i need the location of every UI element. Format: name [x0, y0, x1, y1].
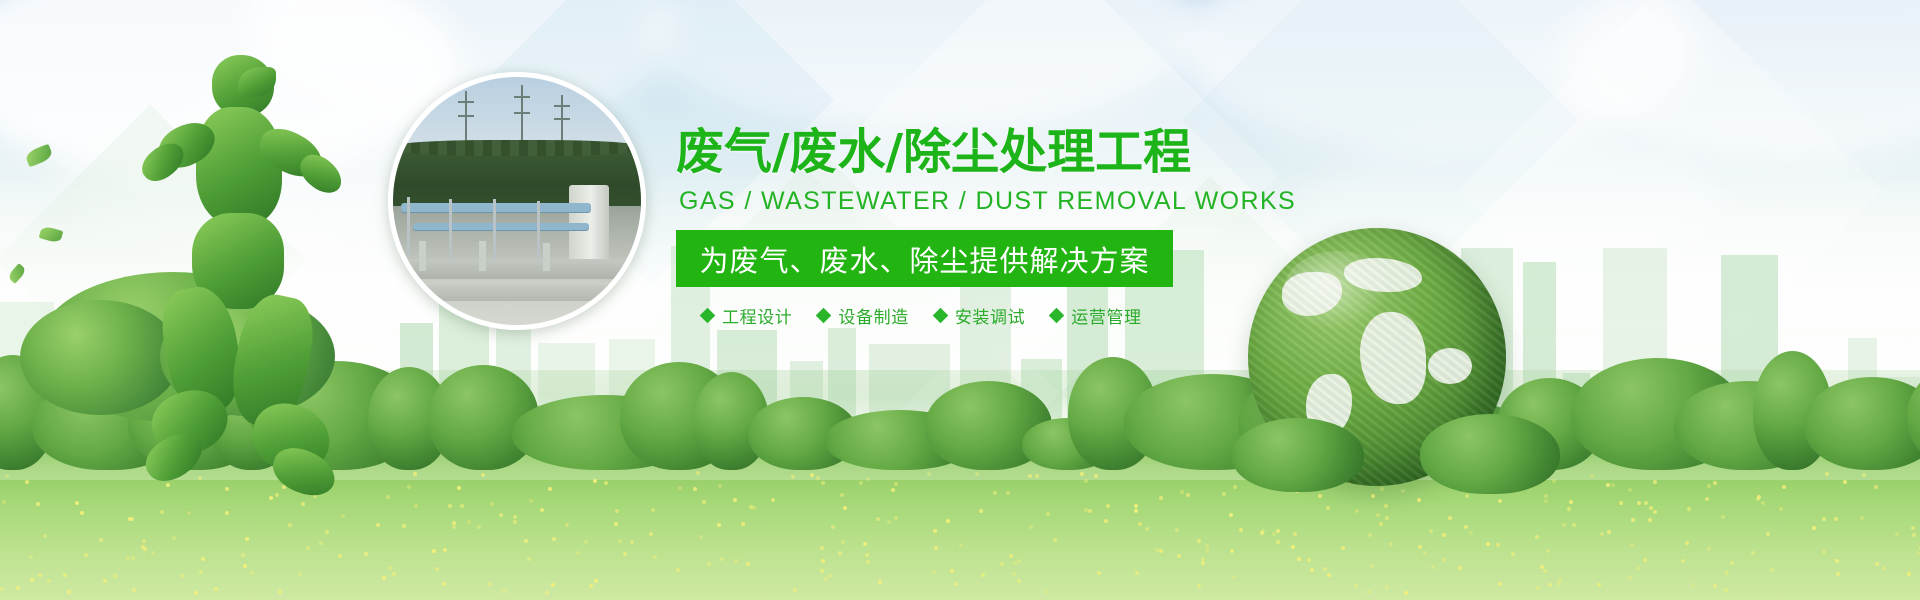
wildflower	[392, 572, 396, 576]
wildflower	[1546, 549, 1550, 553]
wildflower	[1649, 506, 1653, 510]
wildflower	[1636, 566, 1640, 570]
wildflower	[63, 573, 67, 577]
wildflower	[843, 506, 847, 510]
wildflower	[490, 502, 494, 506]
wildflower	[1540, 565, 1544, 569]
wildflower	[859, 481, 863, 485]
wildflower	[151, 551, 155, 555]
wildflower	[1469, 531, 1473, 535]
page-title: 废气/废水/除尘处理工程	[676, 124, 1196, 180]
wildflower	[29, 555, 33, 559]
rail-post	[537, 201, 540, 261]
wildflower	[1607, 530, 1611, 534]
wildflower	[1138, 522, 1142, 526]
wildflower	[1230, 549, 1234, 553]
wildflower	[746, 562, 750, 566]
wildflower	[319, 541, 323, 545]
wildflower	[457, 486, 461, 490]
wildflower	[1544, 499, 1548, 503]
wildflower	[1628, 488, 1632, 492]
wildflower	[1557, 582, 1561, 586]
wildflower	[1835, 559, 1839, 563]
wildflower	[67, 590, 71, 594]
wildflower	[676, 568, 680, 572]
wildflower	[1705, 497, 1709, 501]
wildflower	[876, 517, 880, 521]
headline-block: 废气/废水/除尘处理工程 GAS / WASTEWATER / DUST REM…	[676, 124, 1196, 328]
wildflower	[1155, 548, 1159, 552]
wildflower	[1080, 472, 1084, 476]
wildflower	[103, 579, 107, 583]
wildflower	[545, 591, 549, 595]
wildflower	[1637, 501, 1641, 505]
wildflower	[1567, 507, 1571, 511]
wildflower	[1600, 532, 1604, 536]
wildflower	[1648, 518, 1652, 522]
wildflower	[414, 504, 418, 508]
wildflower	[1291, 545, 1295, 549]
rail-post	[449, 199, 452, 261]
wildflower	[467, 520, 471, 524]
wildflower	[1834, 517, 1838, 521]
wildflower	[594, 579, 598, 583]
wildflower	[810, 473, 814, 477]
wildflower	[1895, 532, 1899, 536]
wildflower	[194, 591, 198, 595]
wildflower	[1536, 586, 1540, 590]
wildflower	[499, 513, 503, 517]
wildflower	[388, 566, 392, 570]
wildflower	[894, 482, 898, 486]
wildflower	[1012, 572, 1016, 576]
wildflower	[696, 471, 700, 475]
wildflower	[1371, 494, 1375, 498]
wildflower	[821, 559, 825, 563]
wildflower	[1106, 504, 1110, 508]
wildflower	[1782, 485, 1786, 489]
diamond-bullet-icon	[933, 308, 949, 324]
wildflower	[1000, 562, 1004, 566]
wildflower	[1552, 479, 1556, 483]
wildflower	[1197, 539, 1201, 543]
wildflower	[1367, 590, 1371, 594]
wildflower	[1911, 526, 1915, 530]
wildflower	[1464, 525, 1468, 529]
wildflower	[1766, 532, 1770, 536]
wildflower	[1569, 500, 1573, 504]
leaf-man-figure	[140, 55, 360, 525]
wildflower	[1631, 518, 1635, 522]
wildflower	[615, 509, 619, 513]
wildflower	[1222, 492, 1226, 496]
wildflower	[1465, 494, 1469, 498]
wildflower	[1725, 571, 1729, 575]
wildflower	[887, 520, 891, 524]
wildflower	[1730, 561, 1734, 565]
wildflower	[1498, 582, 1502, 586]
wildflower	[1822, 550, 1826, 554]
wildflower	[1094, 474, 1098, 478]
wildflower	[1916, 551, 1920, 555]
wildflower	[502, 589, 506, 593]
wildflower	[816, 476, 820, 480]
wildflower	[1825, 472, 1829, 476]
wildflower	[1197, 584, 1201, 588]
wildflower	[1653, 480, 1657, 484]
wildflower	[25, 480, 29, 484]
wildflower	[866, 477, 870, 481]
wildflower	[840, 493, 844, 497]
wildflower	[1239, 528, 1243, 532]
wildflower	[1134, 509, 1138, 513]
wildflower	[793, 588, 797, 592]
wildflower	[1874, 485, 1878, 489]
wildflower	[481, 473, 485, 477]
service-bullet[interactable]: 工程设计	[702, 303, 792, 328]
wildflower	[243, 564, 247, 568]
wildflower	[325, 530, 329, 534]
diamond-bullet-icon	[816, 308, 832, 324]
wildflower	[1380, 487, 1384, 491]
wildflower	[452, 525, 456, 529]
support-column	[419, 241, 426, 271]
slogan-bar: 为废气、废水、除尘提供解决方案	[676, 230, 1173, 287]
wildflower	[1687, 507, 1691, 511]
wildflower	[1498, 499, 1502, 503]
wildflower	[1685, 541, 1689, 545]
basin-edge	[393, 285, 641, 301]
rail-post	[493, 199, 496, 261]
wildflower	[1590, 474, 1594, 478]
wildflower	[1376, 513, 1380, 517]
wildflower	[821, 481, 825, 485]
wildflower	[47, 579, 51, 583]
wildflower	[1724, 588, 1728, 592]
wildflower	[382, 576, 386, 580]
service-bullet-label: 工程设计	[722, 303, 792, 328]
wildflower	[128, 517, 132, 521]
basin-edge	[393, 259, 641, 279]
rail-post	[407, 197, 410, 257]
wildflower	[1029, 525, 1033, 529]
wildflower	[791, 475, 795, 479]
service-bullet-label: 运营管理	[1071, 303, 1141, 328]
wildflower	[1544, 494, 1548, 498]
pipe	[413, 223, 589, 230]
wildflower	[1882, 566, 1886, 570]
wildflower	[1812, 526, 1816, 530]
wildflower	[1233, 485, 1237, 489]
wildflower	[718, 484, 722, 488]
wildflower	[749, 505, 753, 509]
wildflower	[1681, 559, 1685, 563]
wildflower	[1017, 559, 1021, 563]
wildflower	[981, 573, 985, 577]
wildflower	[386, 495, 390, 499]
wildflower	[1006, 491, 1010, 495]
wildflower	[1597, 583, 1601, 587]
wildflower	[524, 539, 528, 543]
wildflower	[841, 540, 845, 544]
wildflower	[488, 582, 492, 586]
wildflower	[1836, 572, 1840, 576]
wildflower	[513, 515, 517, 519]
wildflower	[376, 523, 380, 527]
wildflower	[702, 500, 706, 504]
wildflower	[584, 540, 588, 544]
wildflower	[1548, 583, 1552, 587]
wildflower	[1389, 542, 1393, 546]
wildflower	[565, 523, 569, 527]
wildflower	[828, 574, 832, 578]
wildflower	[1341, 546, 1345, 550]
wildflower	[30, 578, 34, 582]
wildflower	[16, 586, 20, 590]
wildflower	[278, 590, 282, 594]
wildflower	[99, 538, 103, 542]
wildflower	[443, 548, 447, 552]
wildflower	[1186, 493, 1190, 497]
wildflower	[513, 520, 517, 524]
wildflower	[1145, 527, 1149, 531]
wildflower	[649, 532, 653, 536]
wildflower	[38, 573, 42, 577]
wildflower	[1175, 528, 1179, 532]
wildflower	[831, 525, 835, 529]
wildflower	[131, 556, 135, 560]
wildflower	[950, 569, 954, 573]
wildflower	[824, 577, 828, 581]
wildflower	[1486, 542, 1490, 546]
wildflower	[1084, 508, 1088, 512]
wildflower	[1205, 549, 1209, 553]
wildflower	[693, 487, 697, 491]
wildflower	[1035, 474, 1039, 478]
wildflower	[442, 582, 446, 586]
wildflower	[527, 557, 531, 561]
wildflower	[5, 474, 9, 478]
wildflower	[1323, 567, 1327, 571]
wildflower	[1177, 554, 1181, 558]
wildflower	[448, 504, 452, 508]
wildflower	[548, 487, 552, 491]
wildflower	[540, 508, 544, 512]
wildflower	[1535, 535, 1539, 539]
wildflower	[1017, 579, 1021, 583]
wildflower	[1691, 583, 1695, 587]
wildflower	[1385, 585, 1389, 589]
wildflower	[1572, 523, 1576, 527]
wildflower	[630, 540, 634, 544]
wildflower	[407, 485, 411, 489]
wildflower	[113, 574, 117, 578]
wildflower	[1368, 533, 1372, 537]
wildflower	[180, 574, 184, 578]
wildflower	[1628, 576, 1632, 580]
wildflower	[1442, 558, 1446, 562]
wildflower	[820, 546, 824, 550]
wildflower	[1757, 495, 1761, 499]
service-bullet-label: 安装调试	[955, 303, 1025, 328]
wildflower	[306, 546, 310, 550]
service-bullet-label: 设备制造	[838, 303, 908, 328]
wildflower	[1862, 473, 1866, 477]
wildflower	[364, 552, 368, 556]
wildflower	[651, 508, 655, 512]
wildflower	[1104, 519, 1108, 523]
wildflower	[954, 582, 958, 586]
wildflower	[1643, 558, 1647, 562]
wildflower	[604, 481, 608, 485]
wildflower	[143, 547, 147, 551]
wildflower	[1779, 507, 1783, 511]
service-bullet[interactable]: 安装调试	[935, 303, 1025, 328]
service-bullet[interactable]: 运营管理	[1051, 303, 1141, 328]
wildflower	[1644, 501, 1648, 505]
wildflower	[1404, 591, 1408, 595]
wildflower	[1159, 549, 1163, 553]
wildflower	[720, 557, 724, 561]
wildflower	[699, 535, 703, 539]
wildflower	[1511, 552, 1515, 556]
wildflower	[717, 523, 721, 527]
wildflower	[1370, 564, 1374, 568]
wildflower	[1707, 547, 1711, 551]
wildflower	[1293, 532, 1297, 536]
wildflower	[1327, 573, 1331, 577]
wildflower	[413, 472, 417, 476]
service-bullet[interactable]: 设备制造	[818, 303, 908, 328]
service-bullet-list: 工程设计设备制造安装调试运营管理	[676, 303, 1196, 328]
wildflower	[1297, 557, 1301, 561]
wildflower	[734, 559, 738, 563]
wildflower	[1630, 543, 1634, 547]
wildflower	[551, 583, 555, 587]
wildflower	[1205, 544, 1209, 548]
pipe	[401, 203, 591, 212]
diamond-bullet-icon	[1049, 308, 1065, 324]
bush	[1420, 414, 1560, 494]
wildflower	[1761, 501, 1765, 505]
wildflower	[576, 551, 580, 555]
wildflower	[1423, 551, 1427, 555]
wildflower	[460, 504, 464, 508]
wildflower	[863, 542, 867, 546]
wildflower	[250, 571, 254, 575]
wildflower	[589, 584, 593, 588]
wildflower	[933, 529, 937, 533]
wildflower	[975, 472, 979, 476]
wildflower	[1232, 575, 1236, 579]
bush	[1232, 418, 1364, 492]
wildflower	[741, 522, 745, 526]
wildflower	[172, 536, 176, 540]
wildflower	[1875, 562, 1879, 566]
wildflower	[452, 521, 456, 525]
wildflower	[1401, 489, 1405, 493]
wildflower	[402, 524, 406, 528]
eco-engineering-banner: 废气/废水/除尘处理工程 GAS / WASTEWATER / DUST REM…	[0, 0, 1920, 600]
wildflower	[552, 537, 556, 541]
wildflower	[1860, 516, 1864, 520]
wildflower	[1429, 529, 1433, 533]
wildflower	[878, 580, 882, 584]
wildflower	[838, 551, 842, 555]
wildflower	[1053, 538, 1057, 542]
support-column	[543, 243, 550, 271]
wildflower	[1448, 516, 1452, 520]
wildflower	[1442, 533, 1446, 537]
wildflower	[1770, 568, 1774, 572]
wildflower	[1201, 561, 1205, 565]
wildflower	[820, 569, 824, 573]
wildflower	[529, 499, 533, 503]
wildflower	[1562, 523, 1566, 527]
wildflower	[1496, 543, 1500, 547]
wildflower	[1260, 531, 1264, 535]
wildflower	[1326, 506, 1330, 510]
wildflower	[1307, 558, 1311, 562]
wildflower	[142, 539, 146, 543]
wildflower	[707, 562, 711, 566]
wildflower	[1097, 571, 1101, 575]
wildflower	[1843, 480, 1847, 484]
wildflower	[1355, 509, 1359, 513]
wildflower	[0, 587, 4, 591]
wildflower	[199, 570, 203, 574]
wildflower	[1046, 512, 1050, 516]
wildflower	[1272, 532, 1276, 536]
wildflower	[946, 519, 950, 523]
wildflower	[1558, 578, 1562, 582]
wildflower	[1912, 533, 1916, 537]
wildflower	[1318, 494, 1322, 498]
wildflower	[43, 534, 47, 538]
wildflower	[771, 498, 775, 502]
wildflower	[245, 537, 249, 541]
wildflower	[1384, 504, 1388, 508]
wildflower	[959, 543, 963, 547]
wildflower	[1379, 522, 1383, 526]
wildflower	[126, 556, 130, 560]
wildflower	[1028, 474, 1032, 478]
globe-highlight	[1284, 251, 1392, 328]
wildflower	[891, 488, 895, 492]
wildflower	[1134, 504, 1138, 508]
support-column	[479, 241, 486, 271]
wildflower	[1044, 590, 1048, 594]
wildflower	[201, 557, 205, 561]
wildflower	[338, 554, 342, 558]
wildflower	[1543, 569, 1547, 573]
wildflower	[1159, 496, 1163, 500]
wildflower	[432, 549, 436, 553]
wildflower	[84, 553, 88, 557]
treatment-plant-photo	[388, 72, 646, 330]
wildflower	[1180, 490, 1184, 494]
wildflower	[1417, 498, 1421, 502]
wildflower	[934, 546, 938, 550]
wildflower	[36, 502, 40, 506]
wildflower	[678, 486, 682, 490]
wildflower	[80, 511, 84, 515]
wildflower	[1606, 483, 1610, 487]
wildflower	[1354, 584, 1358, 588]
wildflower	[1276, 540, 1280, 544]
wildflower	[75, 501, 79, 505]
wildflower	[979, 509, 983, 513]
